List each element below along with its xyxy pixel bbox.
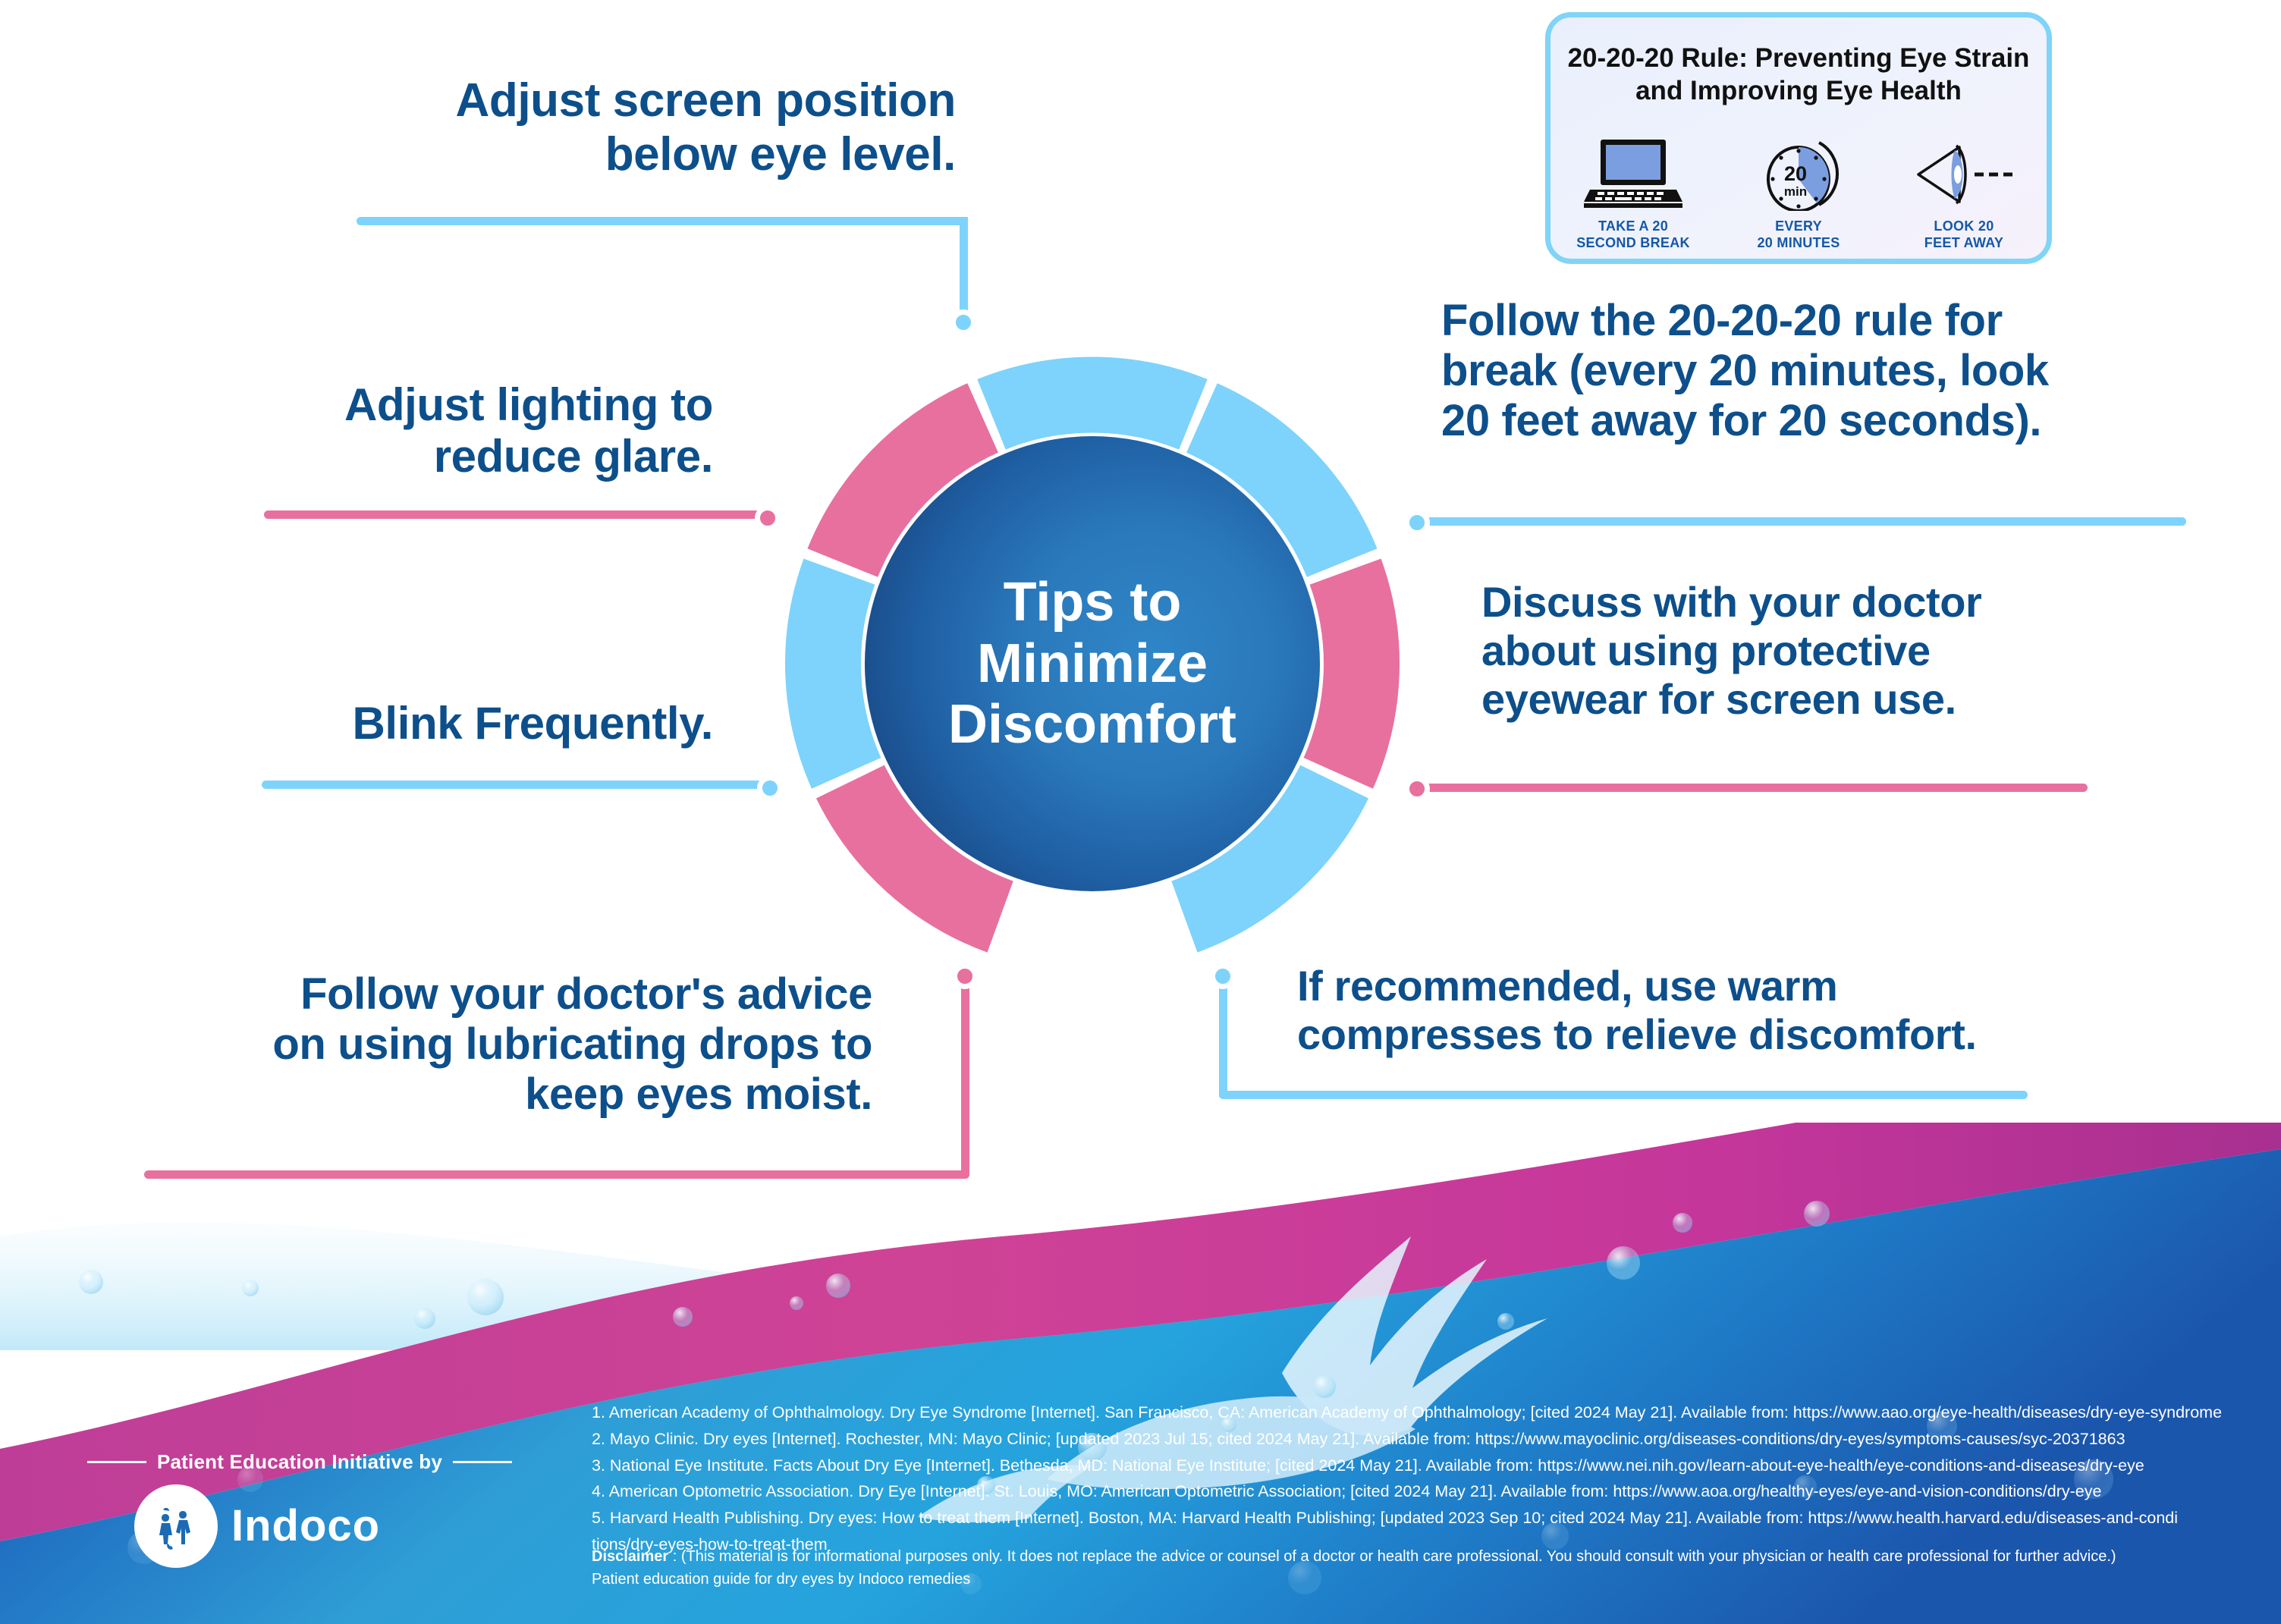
ring-segment-top bbox=[991, 394, 1193, 414]
brand-name: Indoco bbox=[231, 1504, 380, 1548]
disclaimer-text: : (This material is for informational pu… bbox=[668, 1548, 2116, 1565]
connector-dot-drops bbox=[952, 963, 978, 989]
connector-blink-h bbox=[262, 781, 774, 789]
timer-value: 20 bbox=[1784, 162, 1807, 185]
brand-block: Patient Education Initiative by Indoco bbox=[87, 1450, 512, 1568]
tip-lighting-glare: Adjust lighting to reduce glare. bbox=[174, 379, 713, 483]
eye-distance-icon bbox=[1911, 131, 2017, 211]
references-list: 1. American Academy of Ophthalmology. Dr… bbox=[592, 1399, 2261, 1558]
initiative-label: Patient Education Initiative by bbox=[157, 1450, 442, 1474]
connector-screen-position-v bbox=[960, 217, 968, 323]
card-columns: TAKE A 20 SECOND BREAK bbox=[1551, 131, 2047, 251]
reference-item: 3. National Eye Institute. Facts About D… bbox=[592, 1453, 2261, 1479]
card-column-timer: 20 min EVERY 20 MINUTES bbox=[1716, 131, 1881, 251]
card-title: 20-20-20 Rule: Preventing Eye Strain and… bbox=[1551, 42, 2047, 107]
reference-item: 2. Mayo Clinic. Dry eyes [Internet]. Roc… bbox=[592, 1426, 2261, 1453]
connector-drops-v bbox=[961, 986, 969, 1176]
connector-compress-h bbox=[1219, 1091, 2028, 1099]
connector-dot-eyewear bbox=[1404, 776, 1430, 802]
connector-dot-blink bbox=[757, 775, 783, 801]
card-column-break: TAKE A 20 SECOND BREAK bbox=[1551, 131, 1716, 251]
card-caption-distance: LOOK 20 FEET AWAY bbox=[1924, 218, 2003, 251]
connector-dot-rule bbox=[1404, 510, 1430, 536]
reference-item: 4. American Optometric Association. Dry … bbox=[592, 1478, 2261, 1505]
tip-protective-eyewear: Discuss with your doctor about using pro… bbox=[1481, 578, 2270, 723]
disclaimer-line2: Patient education guide for dry eyes by … bbox=[592, 1568, 2245, 1591]
connector-eyewear-h bbox=[1420, 784, 2088, 792]
card-caption-break: TAKE A 20 SECOND BREAK bbox=[1576, 218, 1690, 251]
infographic-canvas: 1. American Academy of Ophthalmology. Dr… bbox=[0, 0, 2281, 1624]
connector-dot-compress bbox=[1210, 963, 1236, 989]
tip-rule-20-20-20: Follow the 20-20-20 rule for break (ever… bbox=[1441, 296, 2268, 446]
card-caption-timer: EVERY 20 MINUTES bbox=[1757, 218, 1840, 251]
ring-segment-sw bbox=[823, 572, 847, 774]
rule-right bbox=[453, 1461, 512, 1463]
disclaimer-label: Disclaimer bbox=[592, 1548, 668, 1565]
rule-20-20-20-card: 20-20-20 Rule: Preventing Eye Strain and… bbox=[1545, 12, 2052, 264]
connector-compress-v bbox=[1219, 986, 1227, 1097]
tip-screen-position: Adjust screen position below eye level. bbox=[228, 74, 956, 181]
disclaimer-block: Disclaimer : (This material is for infor… bbox=[592, 1545, 2245, 1591]
connector-drops-h bbox=[144, 1170, 969, 1179]
rule-left bbox=[87, 1461, 146, 1463]
connector-rule-h bbox=[1420, 517, 2186, 526]
tip-warm-compresses: If recommended, use warm compresses to r… bbox=[1297, 962, 2245, 1059]
card-column-distance: LOOK 20 FEET AWAY bbox=[1881, 131, 2047, 251]
connector-screen-position-h bbox=[357, 217, 968, 225]
connector-lighting-h bbox=[264, 510, 772, 519]
reference-item: 1. American Academy of Ophthalmology. Dr… bbox=[592, 1399, 2261, 1426]
ring-segment-e bbox=[1338, 572, 1362, 774]
indoco-family-icon bbox=[134, 1484, 218, 1568]
brand-logo: Indoco bbox=[87, 1484, 512, 1568]
connector-dot-lighting bbox=[755, 505, 781, 531]
timer-unit: min bbox=[1784, 184, 1807, 199]
laptop-icon bbox=[1584, 131, 1682, 211]
tip-blink-frequently: Blink Frequently. bbox=[174, 698, 713, 749]
tip-lubricating-drops: Follow your doctor's advice on using lub… bbox=[114, 969, 872, 1120]
timer-icon: 20 min bbox=[1752, 131, 1845, 211]
hub-circle: Tips to Minimize Discomfort bbox=[865, 436, 1320, 891]
hub-title: Tips to Minimize Discomfort bbox=[865, 436, 1320, 891]
connector-dot-screen-position bbox=[950, 309, 976, 335]
initiative-line: Patient Education Initiative by bbox=[87, 1450, 512, 1474]
